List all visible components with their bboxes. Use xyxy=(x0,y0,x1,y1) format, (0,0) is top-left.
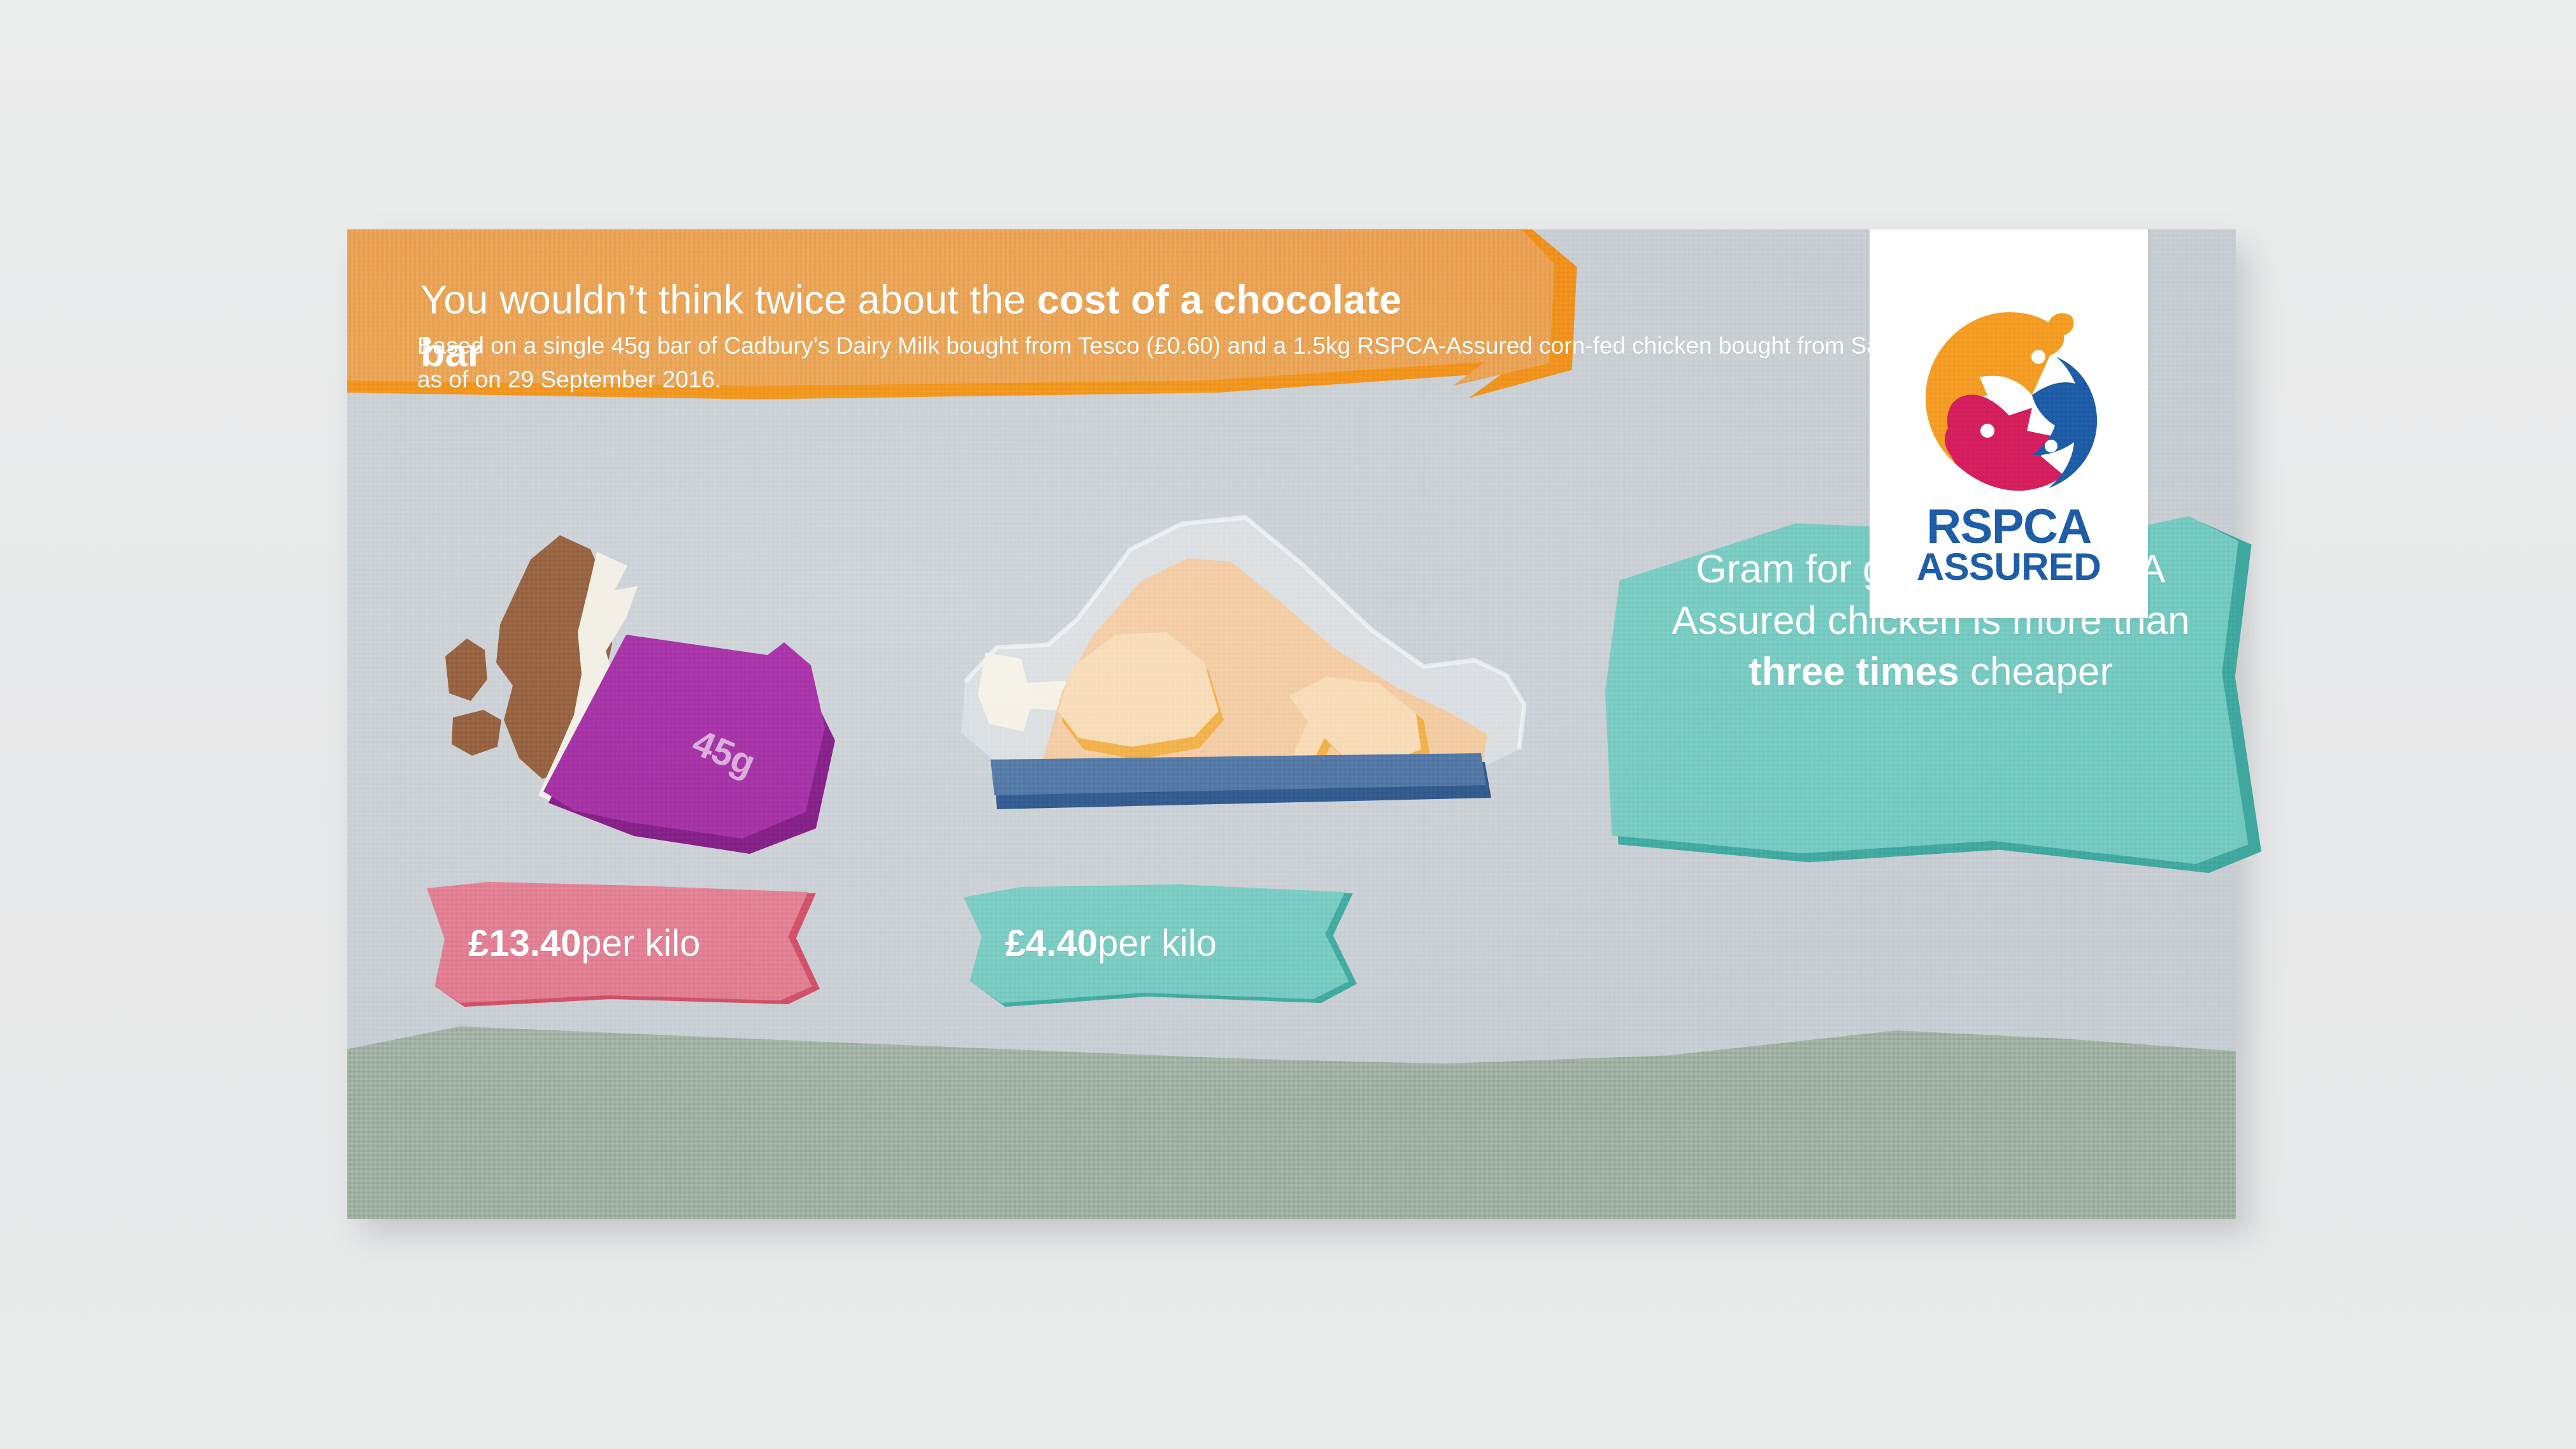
footer-band xyxy=(347,1012,2236,1219)
price-unit-chocolate: per kilo xyxy=(581,922,700,965)
price-banner-chicken: £4.40 per kilo xyxy=(962,879,1357,1007)
chocolate-chunks xyxy=(445,638,501,756)
rspca-logo-wordmark: RSPCA ASSURED xyxy=(1917,505,2101,584)
price-unit-chicken: per kilo xyxy=(1098,922,1217,965)
price-label-chicken: £4.40 per kilo xyxy=(962,879,1357,1007)
rspca-logo-mark xyxy=(1914,306,2105,500)
chocolate-bar-illustration: 45g xyxy=(424,529,869,873)
fish-eye xyxy=(2045,440,2057,452)
headline-lead: You wouldn’t think twice about the xyxy=(420,278,1037,322)
price-amount-chocolate: £13.40 xyxy=(468,922,581,965)
page-background: You wouldn’t think twice about the cost … xyxy=(0,0,2576,1449)
rspca-assured-logo: RSPCA ASSURED xyxy=(1870,229,2148,618)
price-amount-chicken: £4.40 xyxy=(1005,922,1098,965)
chicken-eye xyxy=(2031,350,2045,364)
rspca-logo-line2: ASSURED xyxy=(1917,549,2101,584)
callout-trail: cheaper xyxy=(1959,650,2113,694)
price-banner-chocolate: £13.40 per kilo xyxy=(425,879,820,1007)
chicken-svg xyxy=(914,510,1577,879)
price-label-chocolate: £13.40 per kilo xyxy=(425,879,820,1007)
rspca-logo-line1: RSPCA xyxy=(1917,505,2101,549)
chocolate-bar-svg: 45g xyxy=(424,529,869,873)
whole-chicken-illustration xyxy=(914,510,1577,879)
pig-eye xyxy=(1980,424,1994,438)
rspca-animals-roundel xyxy=(1914,306,2105,497)
infographic-card: You wouldn’t think twice about the cost … xyxy=(347,229,2236,1219)
callout-emphasis: three times xyxy=(1749,650,1959,694)
